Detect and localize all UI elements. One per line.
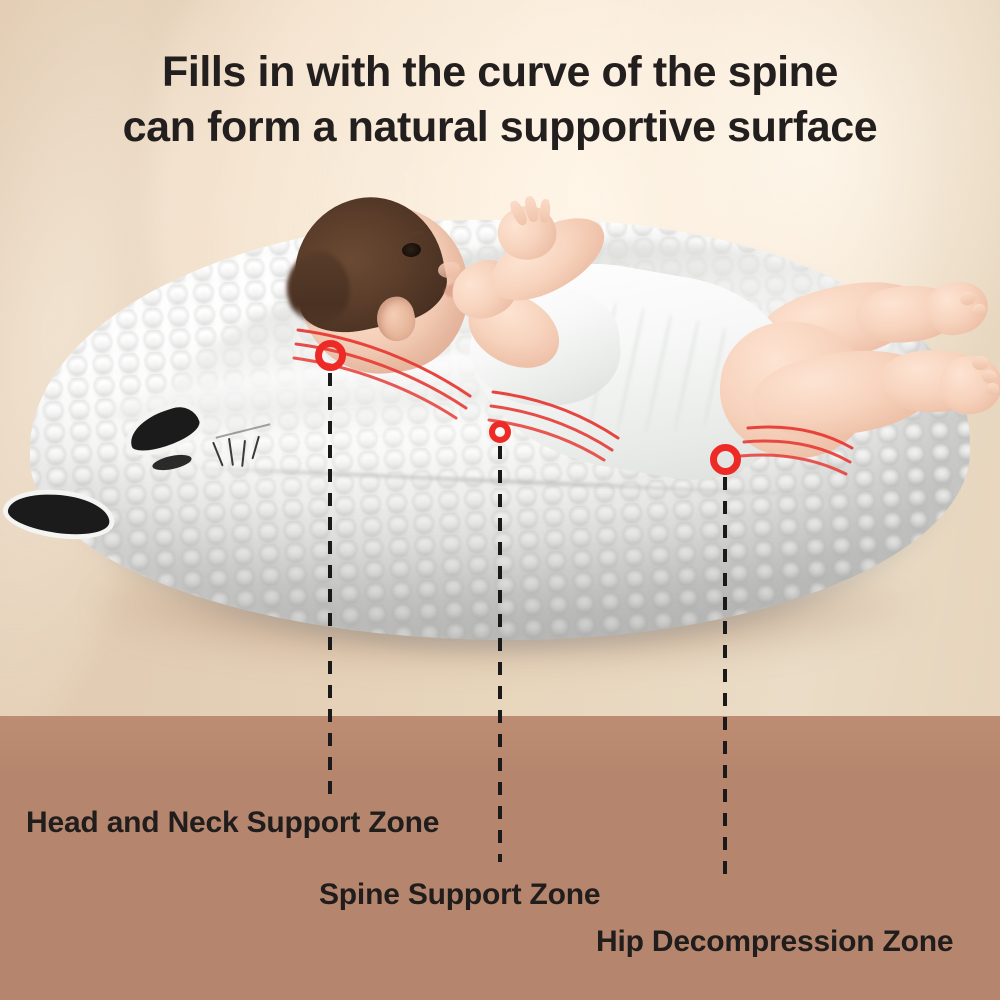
infant-photo-subject [0, 0, 1000, 1000]
baby-toe [982, 370, 997, 383]
baby-toe [986, 383, 999, 395]
baby-toe [972, 356, 989, 370]
spine-marker[interactable] [489, 421, 511, 443]
callout-label-hip: Hip Decompression Zone [596, 925, 953, 959]
head-neck-marker[interactable] [315, 340, 346, 371]
hip-marker[interactable] [710, 444, 741, 475]
product-infographic: Fills in with the curve of the spine can… [0, 0, 1000, 1000]
callout-label-head-neck: Head and Neck Support Zone [26, 806, 439, 840]
callout-label-spine: Spine Support Zone [319, 878, 600, 912]
